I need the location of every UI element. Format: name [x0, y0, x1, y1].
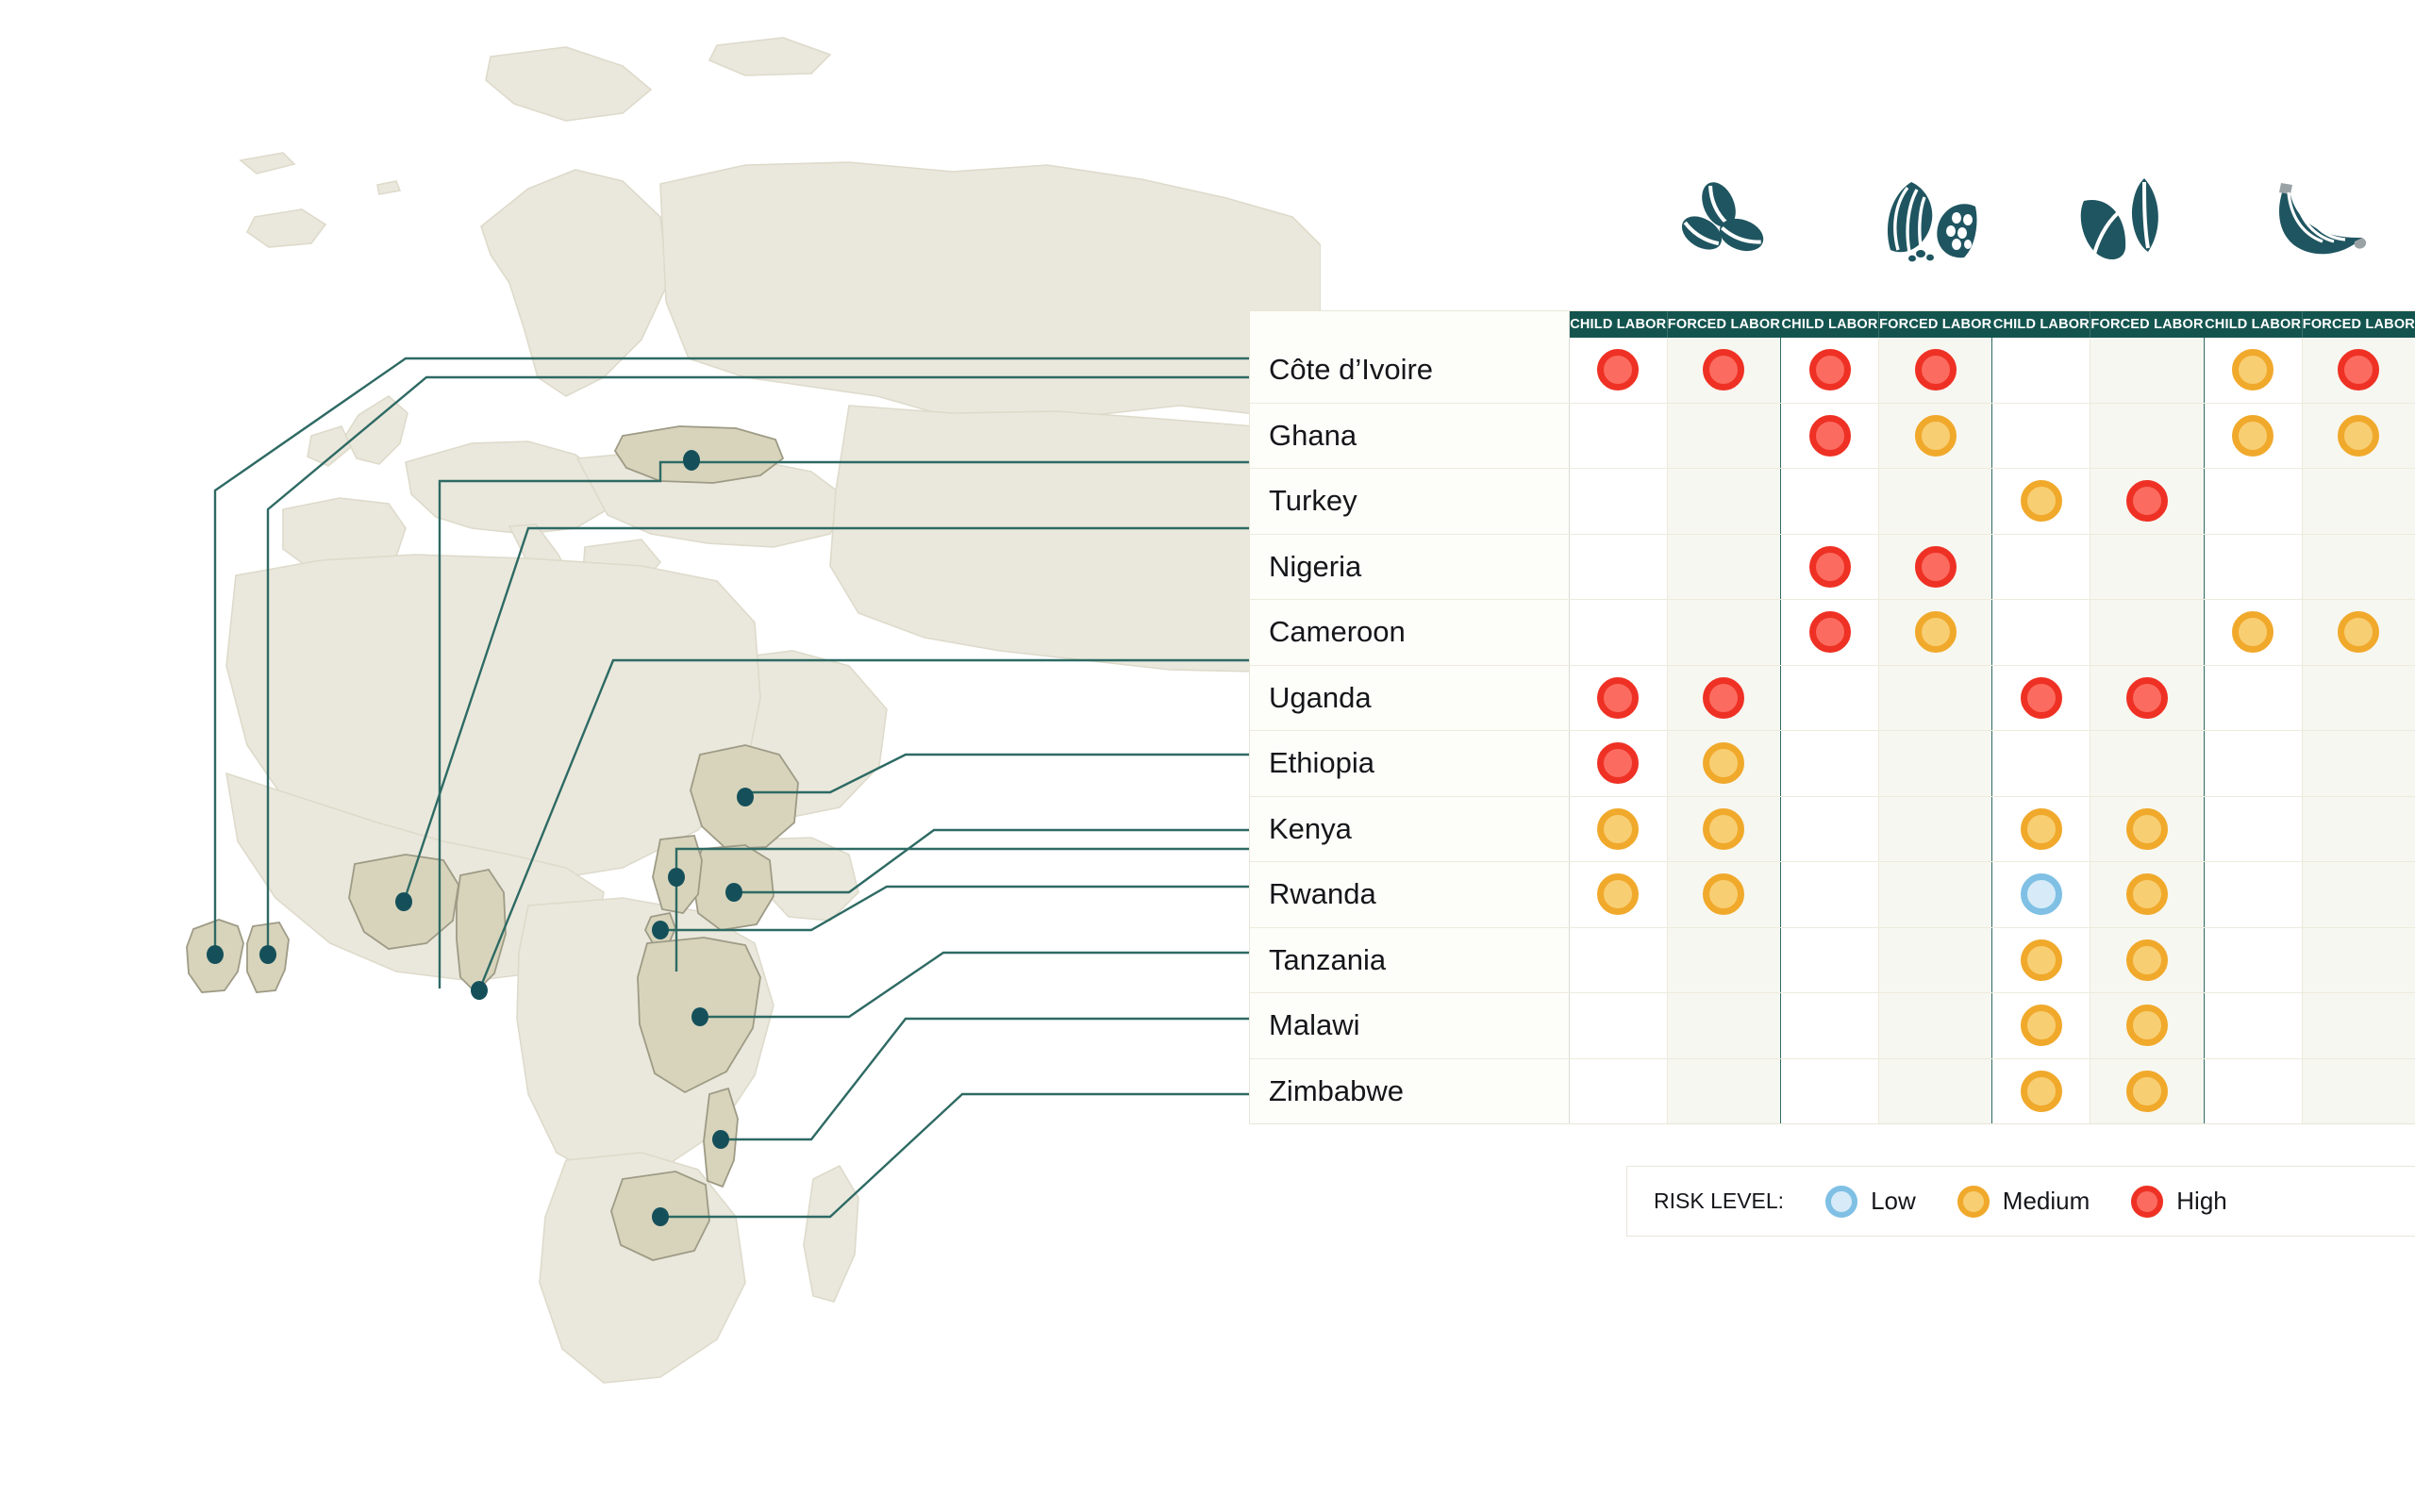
risk-dot-medium-icon — [1703, 873, 1744, 915]
country-name-cell: Malawi — [1250, 993, 1569, 1059]
map-dot-uganda — [668, 868, 685, 887]
risk-cell-tea-child-labor — [1992, 862, 2090, 928]
risk-cell-coffee-child-labor — [1569, 993, 1667, 1059]
country-name-cell: Tanzania — [1250, 927, 1569, 993]
risk-cell-bananas-forced-labor — [2302, 993, 2415, 1059]
header-tea-child-labor: CHILD LABOR — [1992, 311, 2090, 338]
risk-cell-bananas-forced-labor — [2302, 600, 2415, 666]
risk-cell-cocoa-child-labor — [1781, 469, 1879, 535]
risk-dot-high-icon — [2126, 480, 2168, 522]
map-dot-ghana — [259, 945, 276, 964]
risk-cell-tea-forced-labor — [2090, 600, 2204, 666]
risk-cell-cocoa-forced-labor — [1879, 927, 1992, 993]
risk-dot-medium-icon — [2338, 415, 2379, 457]
risk-dot-high-icon — [2021, 677, 2062, 719]
risk-cell-cocoa-child-labor — [1781, 338, 1879, 403]
table-row: Côte d’Ivoire — [1250, 338, 2415, 403]
risk-cell-bananas-child-labor — [2204, 534, 2302, 600]
risk-dot-high-icon — [2126, 677, 2168, 719]
country-name-cell: Nigeria — [1250, 534, 1569, 600]
commodity-icon-row — [1632, 168, 2415, 274]
risk-dot-medium-icon — [2232, 415, 2273, 457]
risk-cell-tea-child-labor — [1992, 665, 2090, 731]
risk-cell-coffee-child-labor — [1569, 469, 1667, 535]
risk-dot-medium-icon — [1597, 873, 1639, 915]
legend-item-medium: Medium — [1957, 1186, 2090, 1218]
risk-cell-cocoa-child-labor — [1781, 534, 1879, 600]
risk-cell-bananas-forced-labor — [2302, 1058, 2415, 1123]
infographic-page: CHILD LABOR FORCED LABOR CHILD LABOR FOR… — [0, 0, 2415, 1512]
coffee-beans-icon — [1632, 168, 1828, 274]
country-name-cell: Ethiopia — [1250, 731, 1569, 797]
risk-dot-medium-icon — [2338, 611, 2379, 653]
risk-dot-medium-icon — [1703, 742, 1744, 784]
risk-level-legend: RISK LEVEL: Low Medium High — [1627, 1167, 2415, 1236]
table-header: CHILD LABOR FORCED LABOR CHILD LABOR FOR… — [1250, 311, 2415, 338]
legend-label-low: Low — [1871, 1187, 1916, 1216]
risk-dot-medium-icon — [2021, 480, 2062, 522]
risk-cell-coffee-child-labor — [1569, 796, 1667, 862]
risk-cell-tea-forced-labor — [2090, 927, 2204, 993]
tea-leaves-icon — [2024, 168, 2220, 274]
risk-cell-coffee-child-labor — [1569, 338, 1667, 403]
risk-dot-medium-icon — [1703, 808, 1744, 850]
risk-dot-high-icon — [1915, 349, 1957, 390]
risk-cell-coffee-forced-labor — [1667, 796, 1780, 862]
risk-cell-coffee-forced-labor — [1667, 927, 1780, 993]
risk-cell-bananas-forced-labor — [2302, 534, 2415, 600]
risk-cell-cocoa-forced-labor — [1879, 1058, 1992, 1123]
table-header-row: CHILD LABOR FORCED LABOR CHILD LABOR FOR… — [1250, 311, 2415, 338]
map-dot-nigeria — [395, 892, 412, 911]
risk-cell-coffee-forced-labor — [1667, 534, 1780, 600]
risk-cell-bananas-child-labor — [2204, 403, 2302, 469]
table-row: Cameroon — [1250, 600, 2415, 666]
risk-dot-high-icon — [1597, 742, 1639, 784]
country-name-cell: Cameroon — [1250, 600, 1569, 666]
risk-cell-bananas-child-labor — [2204, 796, 2302, 862]
map-dot-ethiopia — [737, 788, 754, 806]
risk-cell-cocoa-forced-labor — [1879, 731, 1992, 797]
risk-cell-tea-child-labor — [1992, 796, 2090, 862]
risk-cell-cocoa-forced-labor — [1879, 665, 1992, 731]
risk-cell-coffee-child-labor — [1569, 403, 1667, 469]
risk-cell-coffee-forced-labor — [1667, 993, 1780, 1059]
risk-cell-cocoa-child-labor — [1781, 927, 1879, 993]
risk-cell-bananas-child-labor — [2204, 927, 2302, 993]
risk-cell-cocoa-forced-labor — [1879, 862, 1992, 928]
risk-cell-bananas-forced-labor — [2302, 469, 2415, 535]
risk-cell-cocoa-child-labor — [1781, 1058, 1879, 1123]
risk-dot-medium-icon — [2021, 808, 2062, 850]
risk-cell-tea-forced-labor — [2090, 469, 2204, 535]
risk-cell-cocoa-forced-labor — [1879, 993, 1992, 1059]
map-dot-tanzania — [691, 1007, 708, 1026]
risk-cell-tea-forced-labor — [2090, 1058, 2204, 1123]
risk-cell-coffee-forced-labor — [1667, 862, 1780, 928]
legend-item-low: Low — [1825, 1186, 1916, 1218]
risk-cell-tea-forced-labor — [2090, 796, 2204, 862]
risk-dot-medium-icon — [1915, 415, 1957, 457]
risk-cell-bananas-child-labor — [2204, 731, 2302, 797]
header-coffee-child-labor: CHILD LABOR — [1569, 311, 1667, 338]
risk-cell-cocoa-child-labor — [1781, 731, 1879, 797]
risk-cell-bananas-forced-labor — [2302, 403, 2415, 469]
connector-zimbabwe — [660, 1094, 1250, 1217]
map-dot-cote-divoire — [207, 945, 224, 964]
risk-cell-tea-child-labor — [1992, 403, 2090, 469]
risk-cell-tea-child-labor — [1992, 927, 2090, 993]
table-row: Zimbabwe — [1250, 1058, 2415, 1123]
table-row: Tanzania — [1250, 927, 2415, 993]
legend-item-high: High — [2131, 1186, 2226, 1218]
risk-cell-tea-forced-labor — [2090, 403, 2204, 469]
risk-dot-high-icon — [1703, 677, 1744, 719]
header-bananas-child-labor: CHILD LABOR — [2204, 311, 2302, 338]
risk-cell-bananas-child-labor — [2204, 469, 2302, 535]
risk-cell-cocoa-forced-labor — [1879, 796, 1992, 862]
risk-cell-coffee-child-labor — [1569, 731, 1667, 797]
risk-cell-bananas-child-labor — [2204, 1058, 2302, 1123]
risk-cell-cocoa-child-labor — [1781, 665, 1879, 731]
risk-cell-tea-forced-labor — [2090, 338, 2204, 403]
risk-cell-coffee-forced-labor — [1667, 1058, 1780, 1123]
map-dot-turkey-real — [683, 450, 700, 471]
table-row: Ghana — [1250, 403, 2415, 469]
risk-cell-bananas-forced-labor — [2302, 862, 2415, 928]
risk-cell-tea-forced-labor — [2090, 731, 2204, 797]
map-landmasses — [226, 38, 1321, 1383]
risk-dot-medium-icon — [2232, 349, 2273, 390]
risk-dot-medium-icon — [2126, 1005, 2168, 1046]
header-coffee-forced-labor: FORCED LABOR — [1667, 311, 1780, 338]
risk-cell-bananas-forced-labor — [2302, 927, 2415, 993]
country-name-cell: Rwanda — [1250, 862, 1569, 928]
table-row: Nigeria — [1250, 534, 2415, 600]
table-row: Uganda — [1250, 665, 2415, 731]
risk-cell-coffee-forced-labor — [1667, 665, 1780, 731]
risk-dot-high-icon — [1809, 415, 1851, 457]
country-name-cell: Côte d’Ivoire — [1250, 338, 1569, 403]
risk-cell-cocoa-child-labor — [1781, 403, 1879, 469]
country-name-cell: Uganda — [1250, 665, 1569, 731]
table-row: Kenya — [1250, 796, 2415, 862]
risk-cell-tea-child-labor — [1992, 731, 2090, 797]
risk-cell-coffee-child-labor — [1569, 600, 1667, 666]
risk-cell-bananas-child-labor — [2204, 600, 2302, 666]
connector-malawi — [721, 1019, 1250, 1139]
header-cocoa-child-labor: CHILD LABOR — [1781, 311, 1879, 338]
header-bananas-forced-labor: FORCED LABOR — [2302, 311, 2415, 338]
risk-dot-high-icon — [2338, 349, 2379, 390]
table-row: Turkey — [1250, 469, 2415, 535]
risk-cell-tea-forced-labor — [2090, 862, 2204, 928]
risk-cell-bananas-forced-labor — [2302, 796, 2415, 862]
table-body: Côte d’IvoireGhanaTurkeyNigeriaCameroonU… — [1250, 338, 2415, 1123]
risk-cell-cocoa-forced-labor — [1879, 338, 1992, 403]
risk-cell-bananas-child-labor — [2204, 665, 2302, 731]
risk-cell-tea-forced-labor — [2090, 665, 2204, 731]
risk-dot-high-icon — [1809, 546, 1851, 588]
risk-dot-high-icon — [1809, 349, 1851, 390]
risk-cell-bananas-child-labor — [2204, 862, 2302, 928]
map-dot-kenya — [725, 883, 742, 902]
risk-cell-tea-forced-labor — [2090, 993, 2204, 1059]
world-map — [0, 0, 1321, 1512]
risk-dot-high-icon — [1597, 677, 1639, 719]
risk-cell-coffee-child-labor — [1569, 665, 1667, 731]
risk-dot-high-icon — [1703, 349, 1744, 390]
country-name-cell: Zimbabwe — [1250, 1058, 1569, 1123]
risk-dot-medium-icon — [1915, 611, 1957, 653]
risk-cell-bananas-child-labor — [2204, 338, 2302, 403]
country-header-cell — [1250, 311, 1569, 338]
map-dot-zimbabwe — [652, 1207, 669, 1226]
connector-tanzania — [700, 953, 1250, 1017]
risk-cell-bananas-forced-labor — [2302, 731, 2415, 797]
legend-dot-low-icon — [1825, 1186, 1857, 1218]
risk-dot-high-icon — [1915, 546, 1957, 588]
legend-dot-high-icon — [2131, 1186, 2163, 1218]
risk-cell-coffee-forced-labor — [1667, 403, 1780, 469]
risk-cell-coffee-forced-labor — [1667, 600, 1780, 666]
risk-cell-tea-child-labor — [1992, 338, 2090, 403]
risk-cell-cocoa-forced-labor — [1879, 534, 1992, 600]
risk-cell-cocoa-forced-labor — [1879, 403, 1992, 469]
risk-cell-cocoa-forced-labor — [1879, 469, 1992, 535]
risk-matrix-table: CHILD LABOR FORCED LABOR CHILD LABOR FOR… — [1250, 311, 2415, 1123]
risk-dot-medium-icon — [1597, 808, 1639, 850]
table-row: Ethiopia — [1250, 731, 2415, 797]
country-name-cell: Turkey — [1250, 469, 1569, 535]
header-cocoa-forced-labor: FORCED LABOR — [1879, 311, 1992, 338]
legend-label-high: High — [2176, 1187, 2226, 1216]
table-row: Malawi — [1250, 993, 2415, 1059]
map-dot-rwanda — [652, 921, 669, 939]
risk-dot-medium-icon — [2021, 1005, 2062, 1046]
risk-cell-tea-child-labor — [1992, 993, 2090, 1059]
country-name-cell: Ghana — [1250, 403, 1569, 469]
risk-cell-coffee-forced-labor — [1667, 469, 1780, 535]
risk-cell-coffee-child-labor — [1569, 534, 1667, 600]
header-tea-forced-labor: FORCED LABOR — [2090, 311, 2204, 338]
cocoa-pod-icon — [1828, 168, 2024, 274]
map-dot-malawi — [712, 1130, 729, 1149]
table-row: Rwanda — [1250, 862, 2415, 928]
risk-cell-coffee-forced-labor — [1667, 731, 1780, 797]
risk-dot-low-icon — [2021, 873, 2062, 915]
risk-dot-medium-icon — [2126, 873, 2168, 915]
risk-dot-medium-icon — [2232, 611, 2273, 653]
risk-cell-coffee-child-labor — [1569, 1058, 1667, 1123]
risk-cell-cocoa-child-labor — [1781, 993, 1879, 1059]
risk-cell-cocoa-forced-labor — [1879, 600, 1992, 666]
risk-cell-bananas-forced-labor — [2302, 338, 2415, 403]
legend-label-medium: Medium — [2003, 1187, 2090, 1216]
risk-cell-coffee-child-labor — [1569, 927, 1667, 993]
risk-dot-medium-icon — [2126, 1071, 2168, 1112]
map-dot-cameroon — [471, 981, 488, 1000]
risk-cell-bananas-forced-labor — [2302, 665, 2415, 731]
risk-cell-tea-child-labor — [1992, 1058, 2090, 1123]
risk-dot-medium-icon — [2021, 1071, 2062, 1112]
risk-cell-cocoa-child-labor — [1781, 862, 1879, 928]
risk-dot-medium-icon — [2126, 808, 2168, 850]
legend-title: RISK LEVEL: — [1654, 1188, 1784, 1214]
risk-cell-cocoa-child-labor — [1781, 600, 1879, 666]
country-name-cell: Kenya — [1250, 796, 1569, 862]
risk-cell-tea-child-labor — [1992, 534, 2090, 600]
risk-cell-tea-forced-labor — [2090, 534, 2204, 600]
legend-dot-medium-icon — [1957, 1186, 1990, 1218]
risk-cell-cocoa-child-labor — [1781, 796, 1879, 862]
risk-cell-tea-child-labor — [1992, 469, 2090, 535]
risk-cell-tea-child-labor — [1992, 600, 2090, 666]
risk-cell-bananas-child-labor — [2204, 993, 2302, 1059]
bananas-icon — [2220, 168, 2415, 274]
risk-dot-high-icon — [1597, 349, 1639, 390]
risk-dot-medium-icon — [2021, 939, 2062, 981]
risk-cell-coffee-forced-labor — [1667, 338, 1780, 403]
risk-dot-high-icon — [1809, 611, 1851, 653]
risk-cell-coffee-child-labor — [1569, 862, 1667, 928]
risk-dot-medium-icon — [2126, 939, 2168, 981]
